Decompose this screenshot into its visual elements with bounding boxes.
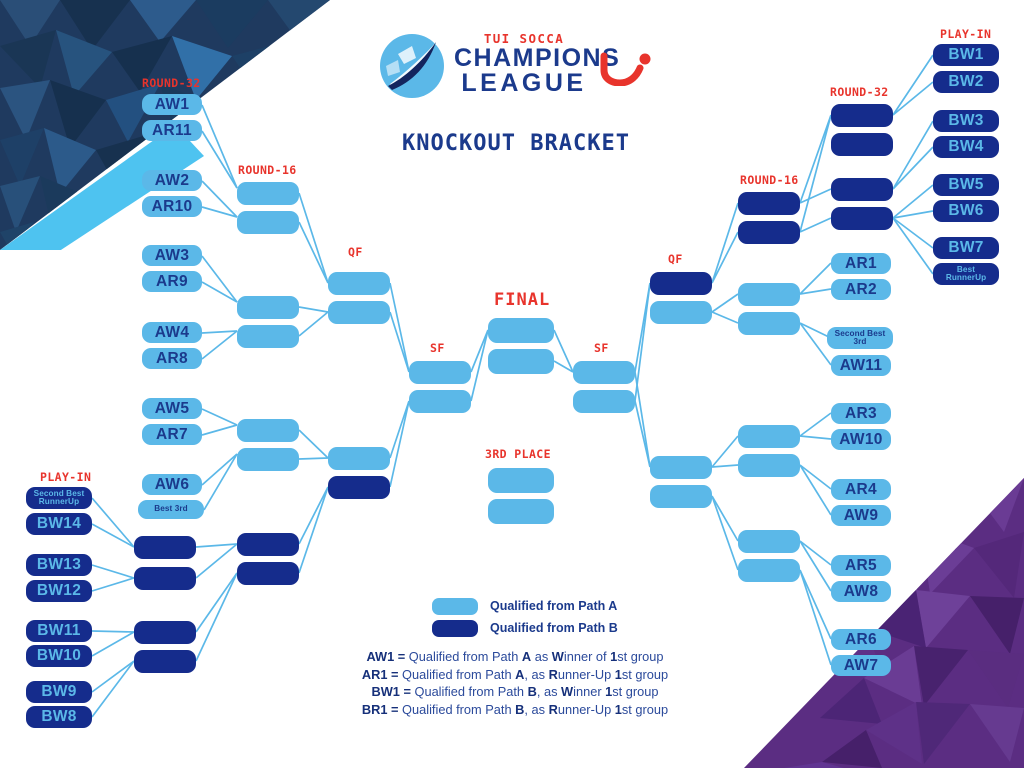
legend-key-ar1: AR1 = Qualified from Path A, as Runner-U… [300, 666, 730, 684]
legend-key-br1: BR1 = Qualified from Path B, as Runner-U… [300, 701, 730, 719]
connector-line-20 [92, 661, 134, 717]
bracket-slot-right-playin-bw7[interactable]: BW7 [933, 237, 999, 259]
bracket-slot-right-round32-second-best-3rd[interactable]: Second Best3rd [827, 327, 893, 349]
connector-line-70 [893, 82, 933, 115]
bracket-slot-right-round32-ar2[interactable]: AR2 [831, 279, 891, 300]
bracket-slot-right-sf-1[interactable] [573, 361, 635, 384]
connector-line-17 [92, 631, 134, 632]
connector-line-5 [202, 256, 237, 302]
bracket-slot-right-round32-4[interactable] [831, 207, 893, 230]
bracket-slot-right-round16-2[interactable] [738, 221, 800, 244]
connector-line-60 [800, 323, 831, 365]
bracket-slot-right-round16-8[interactable] [738, 559, 800, 582]
bracket-slot-left-round32-ar8[interactable]: AR8 [142, 348, 202, 369]
connector-line-47 [712, 294, 738, 312]
bracket-slot-left-round32-aw6[interactable]: AW6 [142, 474, 202, 495]
bracket-slot-final-2[interactable] [488, 349, 554, 374]
round-label-right-playin: PLAY-IN [940, 27, 991, 41]
connector-line-16 [92, 578, 134, 591]
connector-line-13 [92, 498, 134, 547]
bracket-slot-right-round32-ar1[interactable]: AR1 [831, 253, 891, 274]
connector-line-46 [712, 232, 738, 283]
connector-line-27 [299, 307, 328, 312]
bracket-slot-left-playin-bw10[interactable]: BW10 [26, 645, 92, 667]
connector-line-2 [202, 131, 237, 188]
connector-line-64 [800, 465, 831, 515]
connector-line-33 [390, 283, 409, 372]
connector-line-48 [712, 312, 738, 323]
connector-line-18 [92, 632, 134, 656]
bracket-slot-left-qf-1[interactable] [328, 272, 390, 295]
legend-row-path-b: Qualified from Path B [350, 620, 680, 642]
bracket-slot-right-round16-5[interactable] [738, 425, 800, 448]
connector-line-67 [800, 570, 831, 639]
bracket-slot-right-round16-4[interactable] [738, 312, 800, 335]
bracket-slot-left-qf-2[interactable] [328, 301, 390, 324]
bracket-slot-right-round16-7[interactable] [738, 530, 800, 553]
connector-line-23 [196, 573, 237, 632]
bracket-slot-right-sf-2[interactable] [573, 390, 635, 413]
connector-line-22 [196, 544, 237, 578]
bracket-slot-right-round32-ar3[interactable]: AR3 [831, 403, 891, 424]
round-label-left-round16: ROUND-16 [238, 163, 297, 177]
bracket-slot-left-round32-aw1[interactable]: AW1 [142, 94, 202, 115]
connector-line-72 [893, 147, 933, 189]
bracket-slot-left-playin-bw8[interactable]: BW8 [26, 706, 92, 728]
legend-label-path-a: Qualified from Path A [490, 599, 617, 613]
connector-line-12 [204, 454, 237, 510]
connector-line-8 [202, 331, 237, 359]
round-label-third-place: 3RD PLACE [485, 447, 551, 461]
bracket-slot-right-round32-1[interactable] [831, 104, 893, 127]
connector-line-31 [299, 487, 328, 544]
connector-line-76 [893, 218, 933, 274]
connector-line-10 [202, 425, 237, 435]
legend-key-definitions: AW1 = Qualified from Path A as Winner of… [300, 648, 730, 718]
bracket-slot-right-round32-2[interactable] [831, 133, 893, 156]
bracket-slot-right-qf-1[interactable] [650, 272, 712, 295]
bracket-slot-left-round16-1[interactable] [237, 182, 299, 205]
bracket-slot-left-playin-out-2[interactable] [134, 567, 196, 590]
connector-line-65 [800, 541, 831, 565]
connector-line-30 [299, 458, 328, 459]
bracket-slot-left-round32-best-3rd[interactable]: Best 3rd [138, 500, 204, 519]
connector-line-56 [800, 218, 831, 232]
bracket-slot-left-round16-4[interactable] [237, 325, 299, 348]
bracket-slot-left-round32-aw2[interactable]: AW2 [142, 170, 202, 191]
bracket-slot-right-playin-best-runnerup[interactable]: BestRunnerUp [933, 263, 999, 285]
connector-line-54 [800, 115, 831, 232]
round-label-right-round32: ROUND-32 [830, 85, 889, 99]
bracket-slot-third-place-1[interactable] [488, 468, 554, 493]
bracket-slot-left-playin-out-4[interactable] [134, 650, 196, 673]
connector-line-61 [800, 413, 831, 436]
legend-row-path-a: Qualified from Path A [350, 598, 680, 620]
connector-line-73 [893, 185, 933, 218]
connector-line-53 [800, 115, 831, 203]
bracket-slot-left-playin-bw14[interactable]: BW14 [26, 513, 92, 535]
bracket-slot-right-qf-3[interactable] [650, 456, 712, 479]
bracket-slot-left-round16-7[interactable] [237, 533, 299, 556]
legend-swatch-path-b [432, 620, 478, 637]
connector-line-6 [202, 282, 237, 302]
connector-line-1 [202, 105, 237, 188]
connector-line-49 [712, 436, 738, 467]
round-label-left-round32: ROUND-32 [142, 76, 201, 90]
bracket-slot-left-playin-bw13[interactable]: BW13 [26, 554, 92, 576]
connector-line-34 [390, 312, 409, 372]
connector-line-45 [712, 203, 738, 283]
round-label-left-playin: PLAY-IN [40, 470, 91, 484]
bracket-slot-right-round16-1[interactable] [738, 192, 800, 215]
bracket-slot-right-round32-ar6[interactable]: AR6 [831, 629, 891, 650]
round-label-right-sf: SF [594, 341, 609, 355]
bracket-slot-right-round32-ar4[interactable]: AR4 [831, 479, 891, 500]
connector-line-11 [202, 454, 237, 485]
legend: Qualified from Path A Qualified from Pat… [350, 598, 680, 642]
legend-key-bw1: BW1 = Qualified from Path B, as Winner 1… [300, 683, 730, 701]
connector-line-36 [390, 401, 409, 487]
bracket-slot-left-round32-aw4[interactable]: AW4 [142, 322, 202, 343]
connector-line-69 [893, 55, 933, 115]
bracket-slot-left-playin-bw9[interactable]: BW9 [26, 681, 92, 703]
connector-line-44 [635, 372, 650, 467]
bracket-slot-right-round32-aw10[interactable]: AW10 [831, 429, 891, 450]
bracket-slot-right-round32-aw11[interactable]: AW11 [831, 355, 891, 376]
bracket-slot-left-round32-aw5[interactable]: AW5 [142, 398, 202, 419]
bracket-slot-right-round32-aw9[interactable]: AW9 [831, 505, 891, 526]
connector-line-62 [800, 436, 831, 439]
bracket-slot-left-round16-5[interactable] [237, 419, 299, 442]
connector-line-14 [92, 524, 134, 547]
legend-key-aw1: AW1 = Qualified from Path A as Winner of… [300, 648, 730, 666]
bracket-slot-left-playin-out-1[interactable] [134, 536, 196, 559]
bracket-slot-right-playin-bw3[interactable]: BW3 [933, 110, 999, 132]
bracket-slot-right-round16-6[interactable] [738, 454, 800, 477]
connector-line-28 [299, 312, 328, 336]
connector-line-25 [299, 193, 328, 283]
bracket-slot-left-round16-2[interactable] [237, 211, 299, 234]
bracket-slot-right-playin-bw4[interactable]: BW4 [933, 136, 999, 158]
bracket-slot-left-sf-2[interactable] [409, 390, 471, 413]
bracket-slot-left-round16-6[interactable] [237, 448, 299, 471]
bracket-slot-right-round32-ar5[interactable]: AR5 [831, 555, 891, 576]
bracket-slot-right-playin-bw2[interactable]: BW2 [933, 71, 999, 93]
bracket-slot-right-round32-3[interactable] [831, 178, 893, 201]
round-label-left-qf: QF [348, 245, 363, 259]
connector-line-7 [202, 331, 237, 333]
bracket-slot-final-1[interactable] [488, 318, 554, 343]
bracket-slot-left-round32-ar11[interactable]: AR11 [142, 120, 202, 141]
bracket-slot-left-round16-3[interactable] [237, 296, 299, 319]
connector-line-35 [390, 401, 409, 458]
bracket-slot-left-round16-8[interactable] [237, 562, 299, 585]
bracket-slot-left-round32-ar9[interactable]: AR9 [142, 271, 202, 292]
bracket-slot-left-playin-out-3[interactable] [134, 621, 196, 644]
connector-line-21 [196, 544, 237, 547]
connector-line-29 [299, 430, 328, 458]
bracket-slot-right-qf-2[interactable] [650, 301, 712, 324]
round-label-right-qf: QF [668, 252, 683, 266]
bracket-slot-left-qf-3[interactable] [328, 447, 390, 470]
bracket-slot-right-round16-3[interactable] [738, 283, 800, 306]
legend-swatch-path-a [432, 598, 478, 615]
bracket-slot-left-playin-bw12[interactable]: BW12 [26, 580, 92, 602]
bracket-slot-left-sf-1[interactable] [409, 361, 471, 384]
bracket-slot-right-round32-aw7[interactable]: AW7 [831, 655, 891, 676]
bracket-slot-left-round32-ar10[interactable]: AR10 [142, 196, 202, 217]
bracket-slot-right-qf-4[interactable] [650, 485, 712, 508]
legend-label-path-b: Qualified from Path B [490, 621, 618, 635]
bracket-slot-left-round32-ar7[interactable]: AR7 [142, 424, 202, 445]
bracket-slot-third-place-2[interactable] [488, 499, 554, 524]
connector-line-50 [712, 465, 738, 467]
round-label-right-round16: ROUND-16 [740, 173, 799, 187]
bracket-canvas: TUI SOCCA CHAMPIONS LEAGUE KNOCKOUT BRAC… [0, 0, 1024, 768]
bracket-slot-left-qf-4[interactable] [328, 476, 390, 499]
connector-line-32 [299, 487, 328, 573]
connector-line-26 [299, 222, 328, 283]
connector-line-24 [196, 573, 237, 661]
bracket-slot-left-playin-second-best-runnerup[interactable]: Second BestRunnerUp [26, 487, 92, 509]
connector-line-63 [800, 465, 831, 489]
connector-line-71 [893, 121, 933, 189]
round-label-final: FINAL [494, 290, 550, 310]
round-label-left-sf: SF [430, 341, 445, 355]
bracket-slot-left-round32-aw3[interactable]: AW3 [142, 245, 202, 266]
bracket-slot-right-playin-bw6[interactable]: BW6 [933, 200, 999, 222]
connector-line-15 [92, 565, 134, 578]
connector-line-9 [202, 409, 237, 425]
connector-line-75 [893, 218, 933, 248]
bracket-slot-right-round32-aw8[interactable]: AW8 [831, 581, 891, 602]
connector-line-19 [92, 661, 134, 692]
bracket-slot-right-playin-bw5[interactable]: BW5 [933, 174, 999, 196]
bracket-slot-left-playin-bw11[interactable]: BW11 [26, 620, 92, 642]
bracket-slot-right-playin-bw1[interactable]: BW1 [933, 44, 999, 66]
